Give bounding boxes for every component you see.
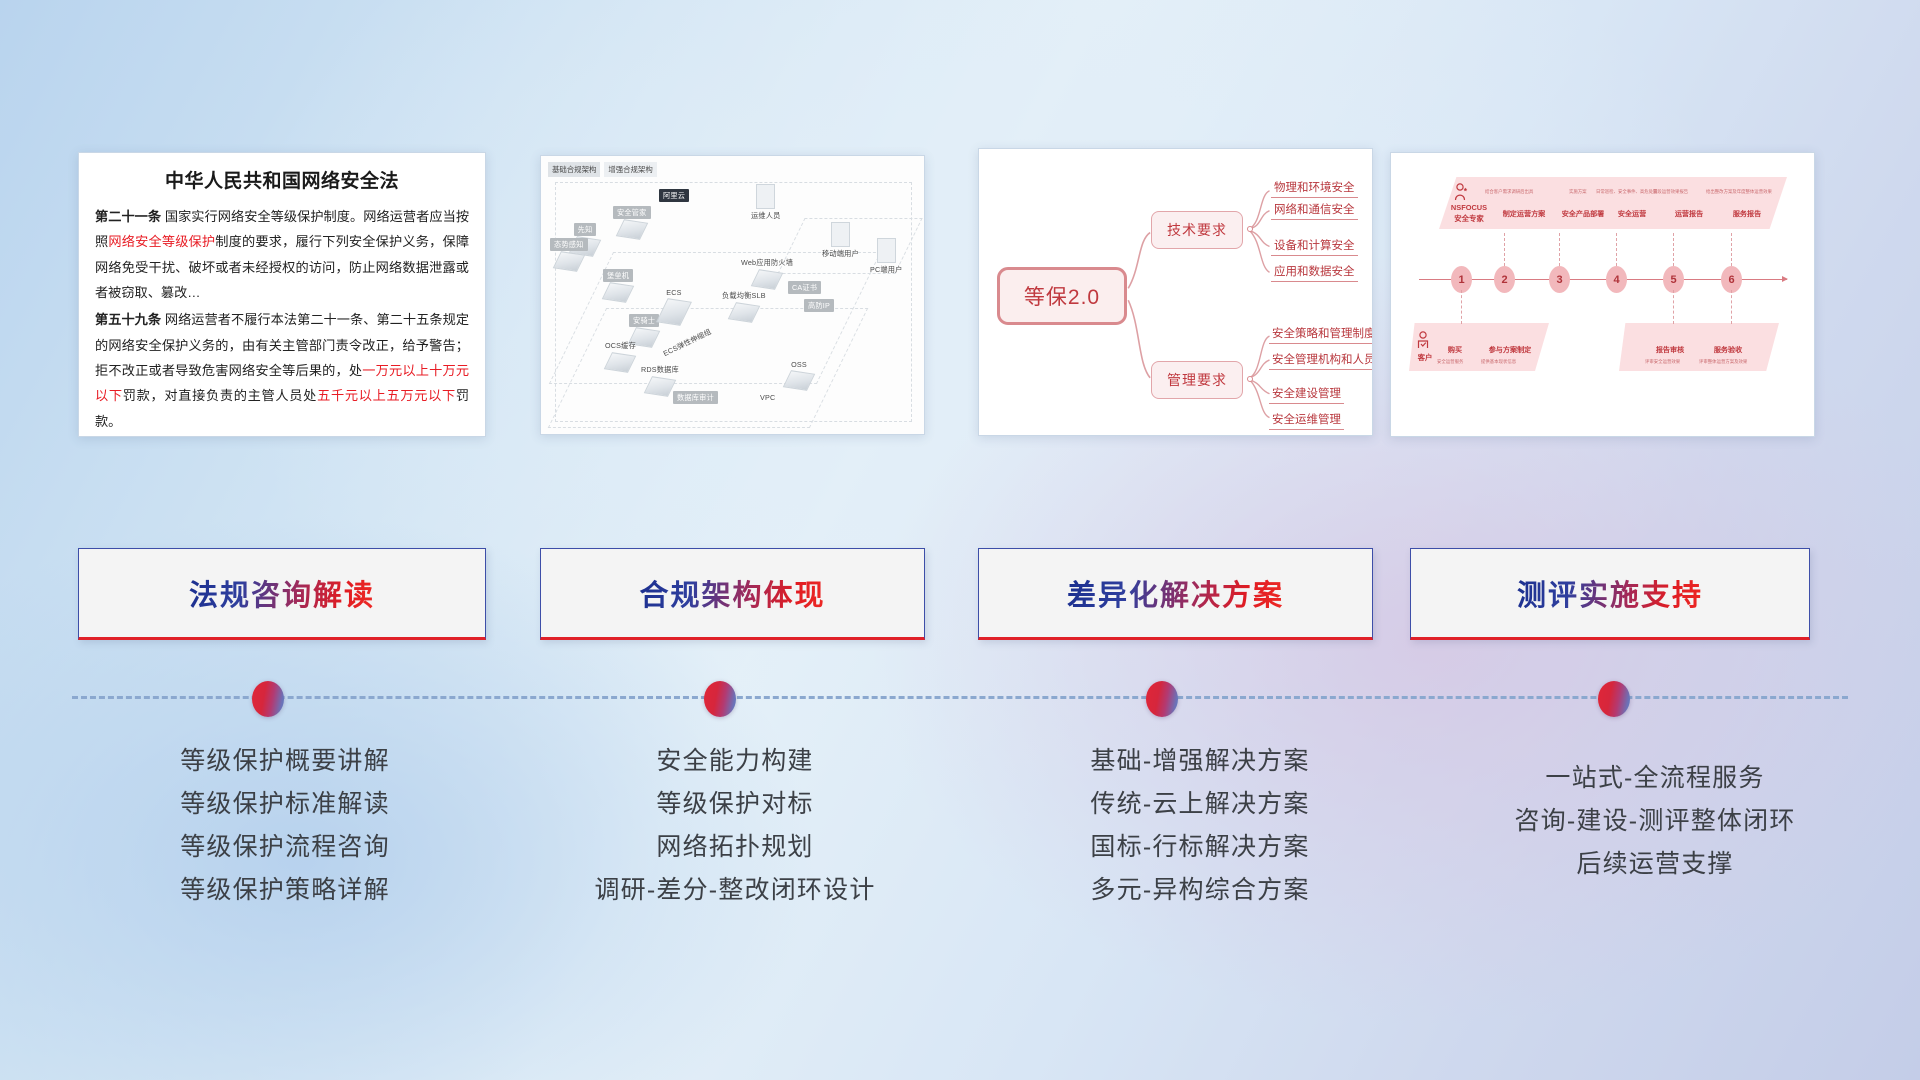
mindmap-branch-management: 管理要求 bbox=[1151, 361, 1243, 399]
process-dash-6b bbox=[1731, 290, 1732, 324]
cube-icon bbox=[751, 269, 784, 290]
slide-canvas: 中华人民共和国网络安全法 第二十一条 国家实行网络安全等级保护制度。网络运营者应… bbox=[0, 0, 1920, 1080]
arch-node-oss: OSS bbox=[786, 358, 812, 389]
list-item: 等级保护概要讲解 bbox=[60, 740, 510, 783]
cube-icon bbox=[728, 302, 761, 323]
arch-node-db-audit: 数据库审计 bbox=[673, 391, 718, 404]
law-article-21-label: 第二十一条 bbox=[95, 209, 161, 224]
process-canvas: NSFOCUS 安全专家 结合客户需求调研后出具 制定运营方案 实施方案 安全产… bbox=[1391, 153, 1814, 436]
process-top-title-5: 服务报告 bbox=[1721, 209, 1773, 219]
process-top-sub-5: 给出整改方案及年度整体运营效果 bbox=[1706, 189, 1772, 195]
list-regulation-consulting: 等级保护概要讲解 等级保护标准解读 等级保护流程咨询 等级保护策略详解 bbox=[60, 740, 510, 912]
list-item: 等级保护对标 bbox=[500, 783, 970, 826]
cube-icon bbox=[616, 219, 649, 240]
arch-node-pc-user: PC端用户 bbox=[866, 236, 907, 276]
mindmap-leaf-policy-system: 安全策略和管理制度 bbox=[1269, 325, 1373, 344]
process-bottom-sub-4: 评审整体运营方案及效果 bbox=[1699, 359, 1747, 365]
process-top-sub-1: 结合客户需求调研后出具 bbox=[1485, 189, 1533, 195]
timeline-dashed-line bbox=[72, 696, 1848, 699]
list-item: 传统-云上解决方案 bbox=[965, 783, 1435, 826]
process-dash-6 bbox=[1731, 233, 1732, 266]
arch-tab-basic[interactable]: 基础合规架构 bbox=[548, 162, 600, 177]
process-top-sub-2: 实施方案 bbox=[1569, 189, 1587, 195]
process-dash-5 bbox=[1673, 233, 1674, 266]
cube-icon bbox=[656, 298, 692, 326]
process-band-provider bbox=[1439, 177, 1787, 229]
list-item: 等级保护流程咨询 bbox=[60, 826, 510, 869]
process-dash-3 bbox=[1559, 233, 1560, 266]
process-top-title-3: 安全运营 bbox=[1606, 209, 1658, 219]
mindmap-collapse-dot-technical[interactable] bbox=[1247, 226, 1253, 232]
server-icon bbox=[877, 238, 896, 263]
banner-differentiated-solution[interactable]: 差异化解决方案 bbox=[978, 548, 1373, 640]
timeline-node-2[interactable] bbox=[704, 681, 736, 717]
process-bottom-title-3: 报告审核 bbox=[1649, 345, 1691, 355]
server-icon bbox=[756, 184, 775, 209]
law-title: 中华人民共和国网络安全法 bbox=[95, 166, 469, 193]
list-item: 后续运营支撑 bbox=[1430, 843, 1880, 886]
mindmap-collapse-dot-management[interactable] bbox=[1247, 376, 1253, 382]
mindmap-leaf-app-data: 应用和数据安全 bbox=[1271, 263, 1358, 282]
arch-tab-enhanced[interactable]: 增强合规架构 bbox=[604, 162, 656, 177]
mindmap-leaf-org-personnel: 安全管理机构和人员 bbox=[1269, 351, 1373, 370]
process-step-6[interactable]: 6 bbox=[1721, 266, 1742, 293]
mindmap-root-node: 等保2.0 bbox=[997, 267, 1127, 325]
arch-node-situation-awareness: 态势感知 bbox=[550, 238, 588, 270]
list-differentiated-solution: 基础-增强解决方案 传统-云上解决方案 国标-行标解决方案 多元-异构综合方案 bbox=[965, 740, 1435, 912]
law-article-21: 第二十一条 国家实行网络安全等级保护制度。网络运营者应当按照网络安全等级保护制度… bbox=[95, 204, 469, 305]
banner-assessment-support[interactable]: 测评实施支持 bbox=[1410, 548, 1810, 640]
list-compliance-architecture: 安全能力构建 等级保护对标 网络拓扑规划 调研-差分-整改闭环设计 bbox=[500, 740, 970, 912]
arch-node-anti-ddos-ip: 高防IP bbox=[804, 299, 834, 312]
arch-node-bastion-host: 堡垒机 bbox=[603, 269, 633, 301]
law-article-21-highlight: 网络安全等级保护 bbox=[108, 234, 215, 249]
law-article-59-text-b: 罚款，对直接负责的主管人员处 bbox=[123, 388, 317, 403]
server-icon bbox=[831, 222, 850, 247]
process-bottom-title-2: 参与方案制定 bbox=[1479, 345, 1541, 355]
timeline-node-3[interactable] bbox=[1146, 681, 1178, 717]
banner-label-2: 合规架构体现 bbox=[639, 572, 825, 614]
process-step-4[interactable]: 4 bbox=[1606, 266, 1627, 293]
process-bottom-sub-1: 安全运营服务 bbox=[1437, 359, 1463, 365]
mindmap-leaf-construction-mgmt: 安全建设管理 bbox=[1269, 385, 1344, 404]
process-top-sub-3: 日常巡检、安全事件、高危处置 bbox=[1596, 189, 1657, 195]
cube-icon bbox=[553, 251, 586, 272]
banner-compliance-architecture[interactable]: 合规架构体现 bbox=[540, 548, 925, 640]
list-item: 等级保护标准解读 bbox=[60, 783, 510, 826]
mindmap-leaf-network-comm: 网络和通信安全 bbox=[1271, 201, 1358, 220]
process-bottom-title-1: 购买 bbox=[1439, 345, 1471, 355]
law-article-59-highlight-b: 五千元以上五万元以下 bbox=[317, 388, 456, 403]
law-article-59: 第五十九条 网络运营者不履行本法第二十一条、第二十五条规定的网络安全保护义务的，… bbox=[95, 307, 469, 434]
list-item: 等级保护策略详解 bbox=[60, 869, 510, 912]
architecture-tabs: 基础合规架构 增强合规架构 bbox=[548, 162, 657, 177]
mindmap-branch-technical: 技术要求 bbox=[1151, 211, 1243, 249]
process-dash-5b bbox=[1673, 290, 1674, 324]
architecture-canvas: 基础合规架构 增强合规架构 阿里云 安全管家 先知 态势感知 bbox=[541, 156, 924, 434]
list-item: 一站式-全流程服务 bbox=[1430, 757, 1880, 800]
arch-node-security-butler: 安全管家 bbox=[613, 206, 651, 238]
card-mindmap: 等保2.0 技术要求 物理和环境安全 网络和通信安全 设备和计算安全 应用和数据… bbox=[978, 148, 1373, 436]
process-bottom-title-4: 服务验收 bbox=[1707, 345, 1749, 355]
timeline-node-4[interactable] bbox=[1598, 681, 1630, 717]
banner-regulation-consulting[interactable]: 法规咨询解读 bbox=[78, 548, 486, 640]
list-item: 国标-行标解决方案 bbox=[965, 826, 1435, 869]
arch-node-slb: 负载均衡SLB bbox=[718, 289, 770, 321]
customer-role-label: 客户 bbox=[1413, 352, 1437, 363]
process-step-3[interactable]: 3 bbox=[1549, 266, 1570, 293]
list-item: 咨询-建设-测评整体闭环 bbox=[1430, 800, 1880, 843]
law-article-59-label: 第五十九条 bbox=[95, 312, 161, 327]
process-top-sub-4: 阶段运营效果报告 bbox=[1653, 189, 1688, 195]
person-star-icon bbox=[1453, 183, 1469, 201]
mindmap-leaf-ops-mgmt: 安全运维管理 bbox=[1269, 411, 1344, 430]
mindmap-leaf-physical-env: 物理和环境安全 bbox=[1271, 179, 1358, 198]
list-item: 安全能力构建 bbox=[500, 740, 970, 783]
mindmap-canvas: 等保2.0 技术要求 物理和环境安全 网络和通信安全 设备和计算安全 应用和数据… bbox=[979, 149, 1372, 435]
law-body: 中华人民共和国网络安全法 第二十一条 国家实行网络安全等级保护制度。网络运营者应… bbox=[79, 153, 485, 437]
list-item: 网络拓扑规划 bbox=[500, 826, 970, 869]
process-dash-1 bbox=[1461, 290, 1462, 324]
person-check-icon bbox=[1416, 331, 1431, 349]
cube-icon bbox=[604, 352, 637, 373]
expert-role-line1: NSFOCUS bbox=[1447, 203, 1491, 212]
arch-node-mobile-user: 移动端用户 bbox=[818, 220, 863, 260]
process-step-2[interactable]: 2 bbox=[1494, 266, 1515, 293]
process-step-1[interactable]: 1 bbox=[1451, 266, 1472, 293]
list-item: 调研-差分-整改闭环设计 bbox=[500, 869, 970, 912]
list-item: 多元-异构综合方案 bbox=[965, 869, 1435, 912]
card-architecture-diagram: 基础合规架构 增强合规架构 阿里云 安全管家 先知 态势感知 bbox=[540, 155, 925, 435]
process-top-title-4: 运营报告 bbox=[1663, 209, 1715, 219]
customer-avatar-icon bbox=[1416, 331, 1431, 354]
cube-icon bbox=[644, 376, 677, 397]
arch-node-vpc: VPC bbox=[756, 391, 779, 403]
process-dash-2 bbox=[1504, 233, 1505, 266]
process-step-5[interactable]: 5 bbox=[1663, 266, 1684, 293]
arch-node-cloud-banner: 阿里云 bbox=[659, 189, 689, 202]
list-assessment-support: 一站式-全流程服务 咨询-建设-测评整体闭环 后续运营支撑 bbox=[1430, 757, 1880, 886]
arch-node-ocs-cache: OCS缓存 bbox=[601, 339, 640, 371]
card-law-text: 中华人民共和国网络安全法 第二十一条 国家实行网络安全等级保护制度。网络运营者应… bbox=[78, 152, 486, 437]
process-bottom-sub-2: 提供基本现状信息 bbox=[1481, 359, 1516, 365]
arch-node-ops-staff: 运维人员 bbox=[747, 182, 785, 222]
banner-label-4: 测评实施支持 bbox=[1517, 572, 1703, 614]
timeline-node-1[interactable] bbox=[252, 681, 284, 717]
process-bottom-sub-3: 评审安全运营效果 bbox=[1645, 359, 1680, 365]
mindmap-leaf-device-compute: 设备和计算安全 bbox=[1271, 237, 1358, 256]
cube-icon bbox=[783, 370, 816, 391]
arch-node-ca-cert: CA证书 bbox=[788, 281, 821, 294]
cube-icon bbox=[602, 282, 635, 303]
expert-role-line2: 安全专家 bbox=[1447, 213, 1491, 224]
arch-node-ecs: ECS bbox=[661, 286, 687, 324]
process-dash-4 bbox=[1616, 233, 1617, 266]
banner-label-1: 法规咨询解读 bbox=[189, 572, 375, 614]
list-item: 基础-增强解决方案 bbox=[965, 740, 1435, 783]
banner-label-3: 差异化解决方案 bbox=[1067, 572, 1284, 614]
card-process-timeline: NSFOCUS 安全专家 结合客户需求调研后出具 制定运营方案 实施方案 安全产… bbox=[1390, 152, 1815, 437]
